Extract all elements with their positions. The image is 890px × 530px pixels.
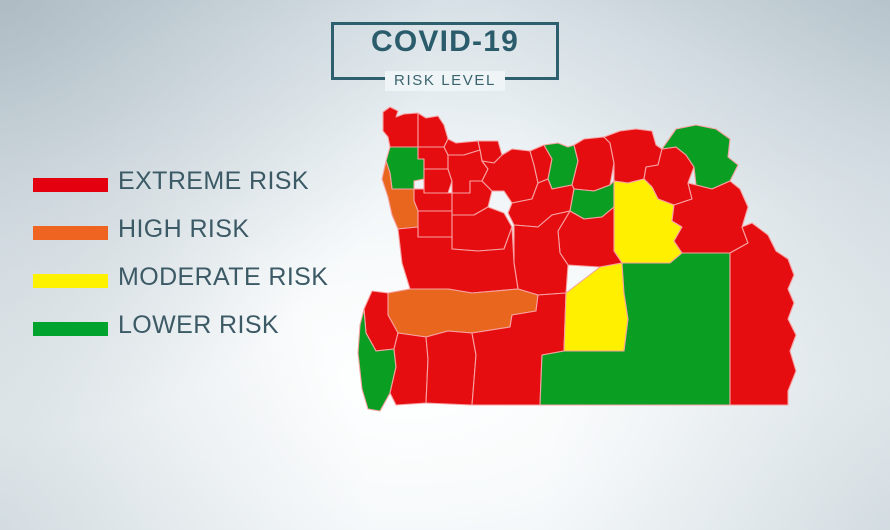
legend-swatch-lower bbox=[33, 322, 108, 336]
county-yamhill bbox=[424, 169, 452, 193]
county-clatsop bbox=[383, 107, 418, 147]
county-josephine bbox=[390, 333, 428, 405]
page-title: COVID-19 bbox=[331, 26, 559, 58]
county-columbia bbox=[418, 113, 448, 147]
county-lake bbox=[564, 263, 628, 351]
county-jackson bbox=[426, 331, 476, 405]
oregon-risk-map bbox=[352, 103, 822, 423]
county-shapes bbox=[358, 107, 796, 411]
legend-label-moderate: MODERATE RISK bbox=[118, 263, 328, 292]
legend-label-high: HIGH RISK bbox=[118, 215, 249, 244]
title-block: COVID-19 RISK LEVEL bbox=[331, 22, 559, 80]
page-subtitle: RISK LEVEL bbox=[331, 71, 559, 91]
legend-label-lower: LOWER RISK bbox=[118, 311, 279, 340]
county-morrow bbox=[572, 137, 614, 191]
oregon-county-map-svg bbox=[352, 103, 822, 423]
legend-swatch-extreme bbox=[33, 178, 108, 192]
risk-level-graphic: COVID-19 RISK LEVEL EXTREME RISK HIGH RI… bbox=[0, 0, 890, 530]
page-subtitle-text: RISK LEVEL bbox=[385, 71, 505, 91]
legend-swatch-moderate bbox=[33, 274, 108, 288]
legend-label-extreme: EXTREME RISK bbox=[118, 167, 309, 196]
county-malheur bbox=[730, 223, 796, 405]
county-benton bbox=[418, 211, 452, 237]
legend-swatch-high bbox=[33, 226, 108, 240]
